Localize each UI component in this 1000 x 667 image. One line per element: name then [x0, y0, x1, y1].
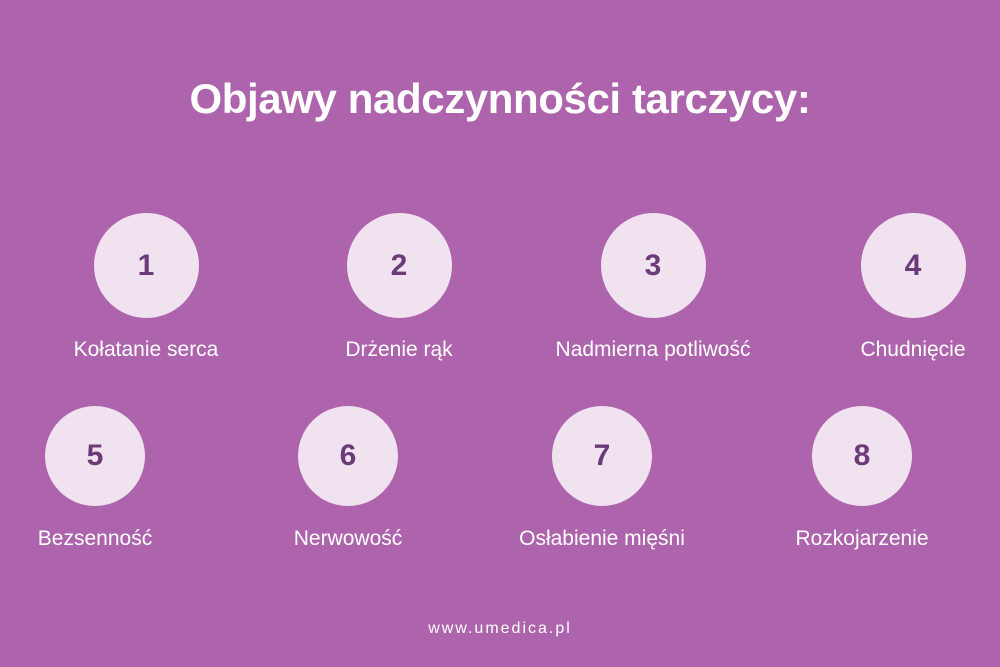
badge-number-1: 1 — [138, 251, 155, 281]
symptom-label-8: Rozkojarzenie — [732, 526, 992, 552]
symptom-label-5: Bezsenność — [0, 526, 225, 552]
number-badge-5: 5 — [45, 406, 145, 506]
symptom-item-6: 6 Nerwowość — [218, 406, 478, 552]
symptom-label-4: Chudnięcie — [783, 337, 1000, 363]
badge-number-2: 2 — [391, 251, 408, 281]
badge-number-4: 4 — [905, 251, 922, 281]
symptom-label-7: Osłabienie mięśni — [472, 526, 732, 552]
number-badge-4: 4 — [861, 213, 966, 318]
badge-number-8: 8 — [854, 441, 871, 471]
page-title: Objawy nadczynności tarczycy: — [0, 73, 1000, 125]
symptom-item-4: 4 Chudnięcie — [783, 213, 1000, 363]
number-badge-3: 3 — [601, 213, 706, 318]
symptom-item-3: 3 Nadmierna potliwość — [523, 213, 783, 363]
symptom-item-8: 8 Rozkojarzenie — [732, 406, 992, 552]
symptom-label-6: Nerwowość — [218, 526, 478, 552]
number-badge-6: 6 — [298, 406, 398, 506]
number-badge-2: 2 — [347, 213, 452, 318]
website-footer: www.umedica.pl — [0, 618, 1000, 640]
symptom-item-1: 1 Kołatanie serca — [16, 213, 276, 363]
number-badge-7: 7 — [552, 406, 652, 506]
badge-number-3: 3 — [645, 251, 662, 281]
badge-number-5: 5 — [87, 441, 104, 471]
symptom-label-3: Nadmierna potliwość — [523, 337, 783, 363]
badge-number-7: 7 — [594, 441, 611, 471]
number-badge-8: 8 — [812, 406, 912, 506]
symptom-item-5: 5 Bezsenność — [0, 406, 225, 552]
symptom-item-2: 2 Drżenie rąk — [269, 213, 529, 363]
symptom-item-7: 7 Osłabienie mięśni — [472, 406, 732, 552]
infographic-poster: Objawy nadczynności tarczycy: 1 Kołatani… — [0, 0, 1000, 667]
symptom-label-1: Kołatanie serca — [16, 337, 276, 363]
number-badge-1: 1 — [94, 213, 199, 318]
symptom-label-2: Drżenie rąk — [269, 337, 529, 363]
badge-number-6: 6 — [340, 441, 357, 471]
